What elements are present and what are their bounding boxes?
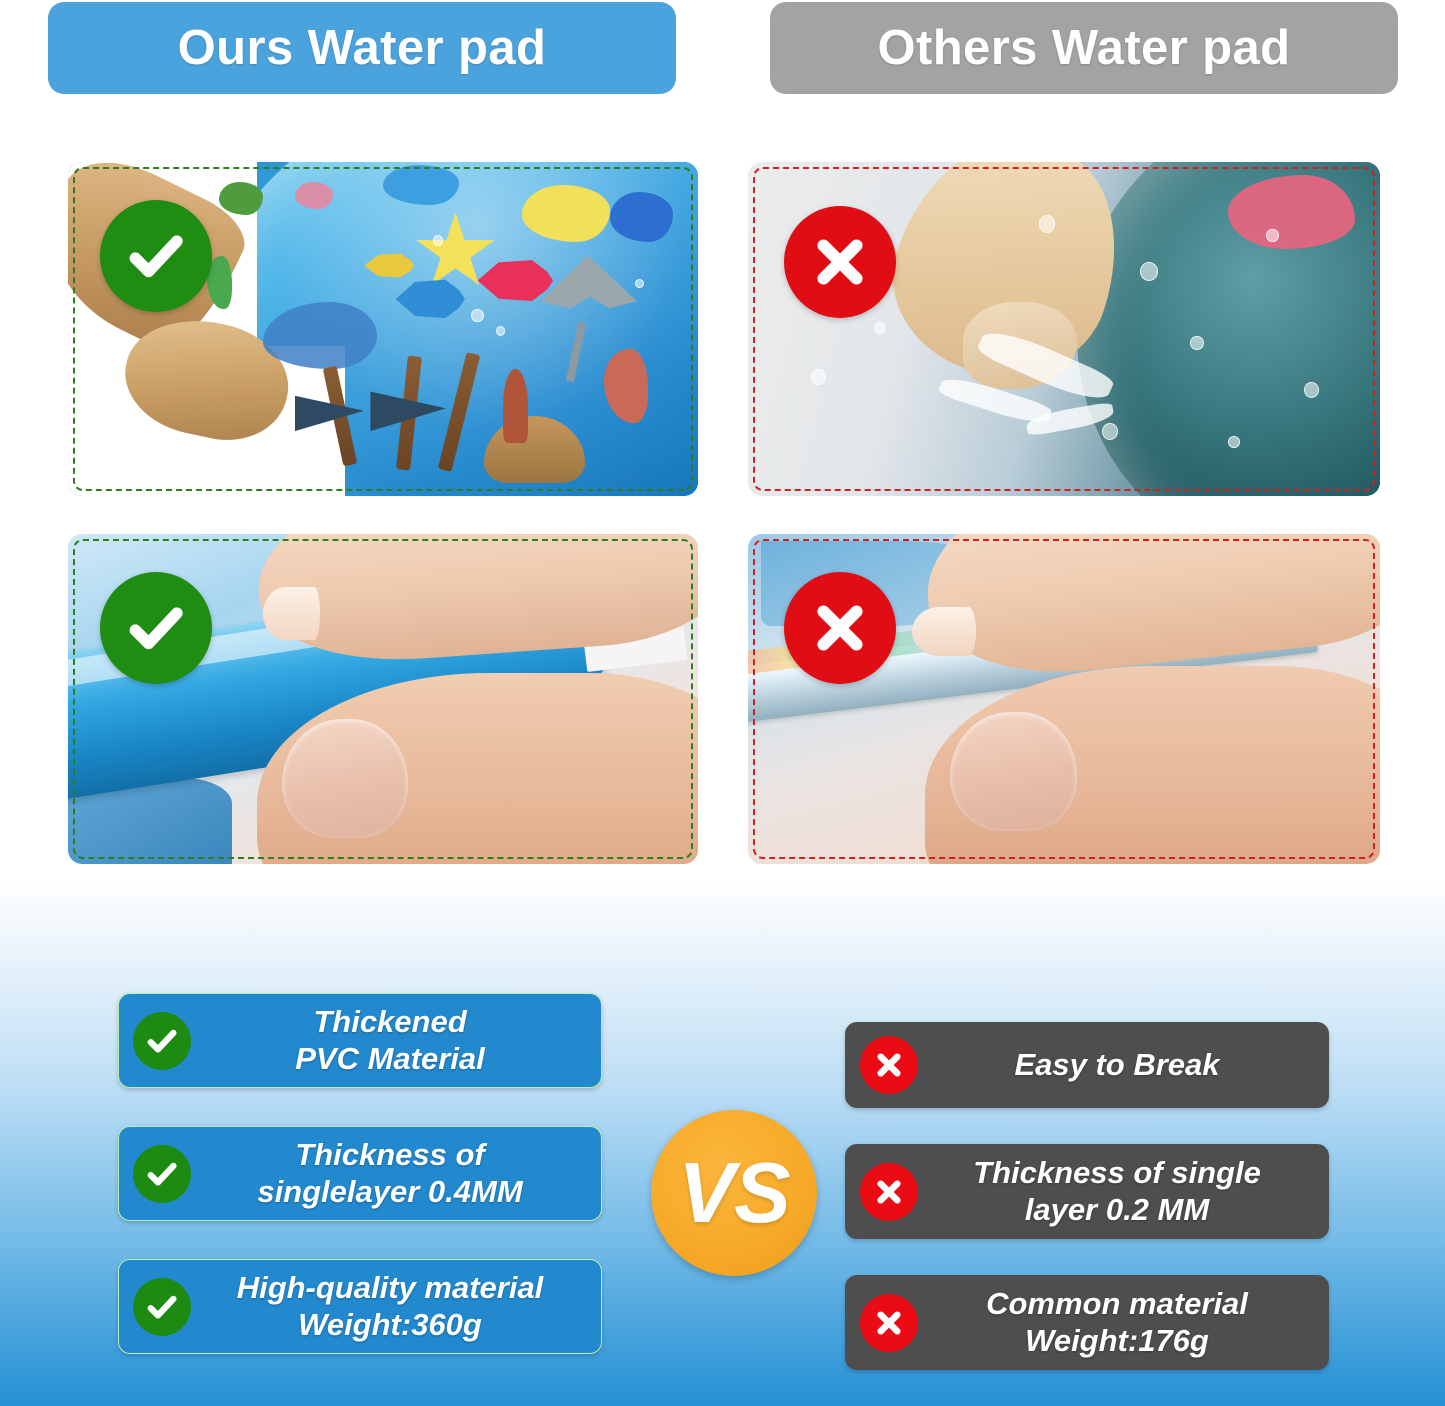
feature-others-item[interactable]: Thickness of single layer 0.2 MM	[845, 1144, 1329, 1239]
vs-badge: VS	[651, 1110, 817, 1276]
cross-icon	[860, 1036, 918, 1094]
vs-label: VS	[678, 1151, 789, 1236]
feature-ours-label: Thickness of singlelayer 0.4MM	[199, 1137, 587, 1210]
feature-others-item[interactable]: Easy to Break	[845, 1022, 1329, 1108]
feature-others-label: Easy to Break	[926, 1047, 1314, 1084]
header-ours-label: Ours Water pad	[178, 20, 547, 76]
cross-icon	[784, 572, 896, 684]
header-others: Others Water pad	[770, 2, 1398, 94]
feature-ours-item[interactable]: High-quality material Weight:360g	[118, 1259, 602, 1354]
check-icon	[100, 572, 212, 684]
comparison-infographic: Ours Water pad Others Water pad	[0, 0, 1445, 1406]
check-icon	[133, 1278, 191, 1336]
check-icon	[100, 200, 212, 312]
header-others-label: Others Water pad	[878, 20, 1291, 76]
check-icon	[133, 1145, 191, 1203]
check-icon	[133, 1012, 191, 1070]
feature-ours-label: Thickened PVC Material	[199, 1004, 587, 1077]
header-ours: Ours Water pad	[48, 2, 676, 94]
features-ours-list: Thickened PVC Material Thickness of sing…	[118, 993, 602, 1354]
feature-others-label: Thickness of single layer 0.2 MM	[926, 1155, 1314, 1228]
feature-ours-item[interactable]: Thickened PVC Material	[118, 993, 602, 1088]
feature-others-item[interactable]: Common material Weight:176g	[845, 1275, 1329, 1370]
feature-others-label: Common material Weight:176g	[926, 1286, 1314, 1359]
cross-icon	[860, 1294, 918, 1352]
cross-icon	[784, 206, 896, 318]
feature-ours-item[interactable]: Thickness of singlelayer 0.4MM	[118, 1126, 602, 1221]
cross-icon	[860, 1163, 918, 1221]
feature-ours-label: High-quality material Weight:360g	[199, 1270, 587, 1343]
features-others-list: Easy to Break Thickness of single layer …	[845, 1022, 1329, 1370]
